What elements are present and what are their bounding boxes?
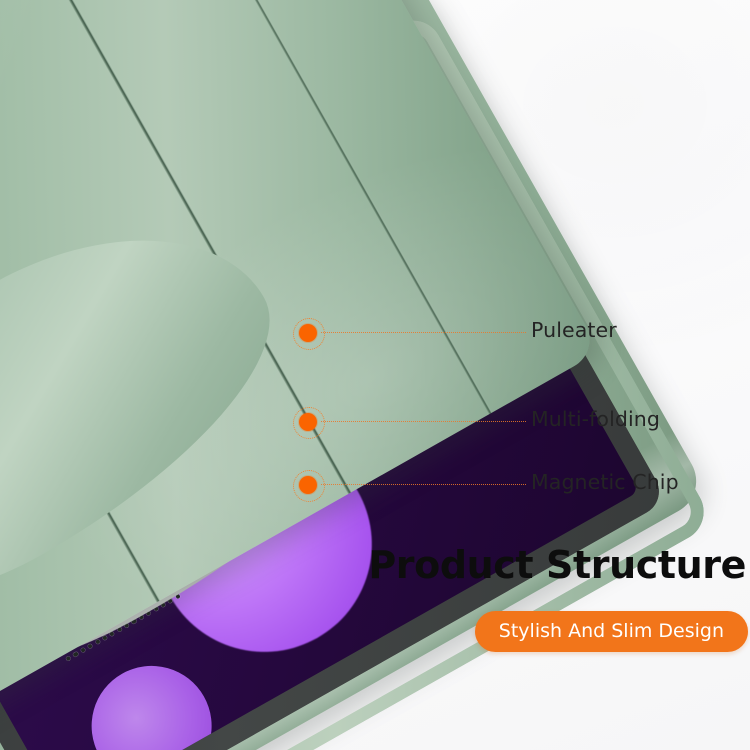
product-structure-infographic: Puleater Multi-folding Magnetic Chip Pro… (0, 0, 750, 750)
page-title: Product Structure (368, 543, 746, 587)
callout-label-puleater: Puleater (531, 318, 617, 342)
callout-label-multi-folding: Multi-folding (531, 407, 660, 431)
orange-dot-marker-icon (299, 324, 317, 342)
leader-line (321, 421, 526, 422)
tagline-badge: Stylish And Slim Design (475, 611, 748, 652)
callout-label-magnetic-chip: Magnetic Chip (531, 470, 679, 494)
leader-line (321, 484, 526, 485)
orange-dot-marker-icon (299, 413, 317, 431)
orange-dot-marker-icon (299, 476, 317, 494)
leader-line (321, 332, 526, 333)
